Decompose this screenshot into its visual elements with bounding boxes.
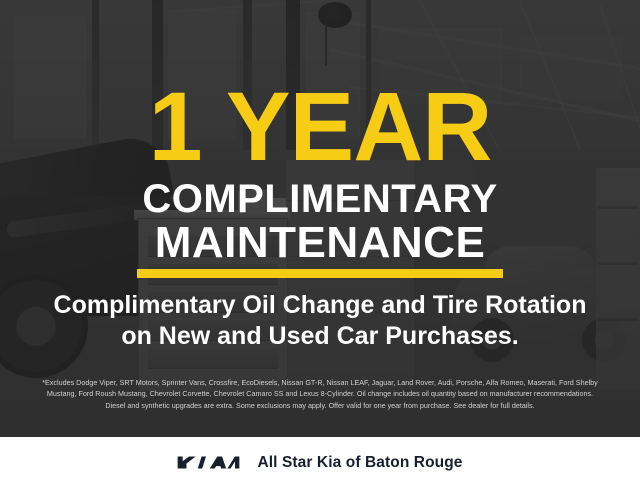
disclaimer-line-2: Mustang, Ford Roush Mustang, Chevrolet C… [14, 388, 626, 399]
offer-subheadline: Complimentary Oil Change and Tire Rotati… [0, 290, 640, 352]
offer-subheadline-line-1: Complimentary Oil Change and Tire Rotati… [0, 290, 640, 321]
dealer-name: All Star Kia of Baton Rouge [257, 454, 462, 472]
disclaimer-line-3: Diesel and synthetic upgrades are extra.… [14, 400, 626, 411]
ad-content: 1 YEAR COMPLIMENTARY MAINTENANCE Complim… [0, 0, 640, 437]
promotional-ad: 1 YEAR COMPLIMENTARY MAINTENANCE Complim… [0, 0, 640, 488]
disclaimer-line-1: *Excludes Dodge Viper, SRT Motors, Sprin… [14, 377, 626, 388]
legal-disclaimer: *Excludes Dodge Viper, SRT Motors, Sprin… [14, 377, 626, 411]
headline-secondary: COMPLIMENTARY [0, 178, 640, 220]
dealer-footer-bar: All Star Kia of Baton Rouge [0, 437, 640, 488]
headline-primary: 1 YEAR [0, 78, 640, 175]
yellow-divider-rule [137, 269, 503, 278]
headline-tertiary: MAINTENANCE [0, 220, 640, 266]
kia-logo [177, 454, 240, 471]
offer-subheadline-line-2: on New and Used Car Purchases. [0, 321, 640, 352]
